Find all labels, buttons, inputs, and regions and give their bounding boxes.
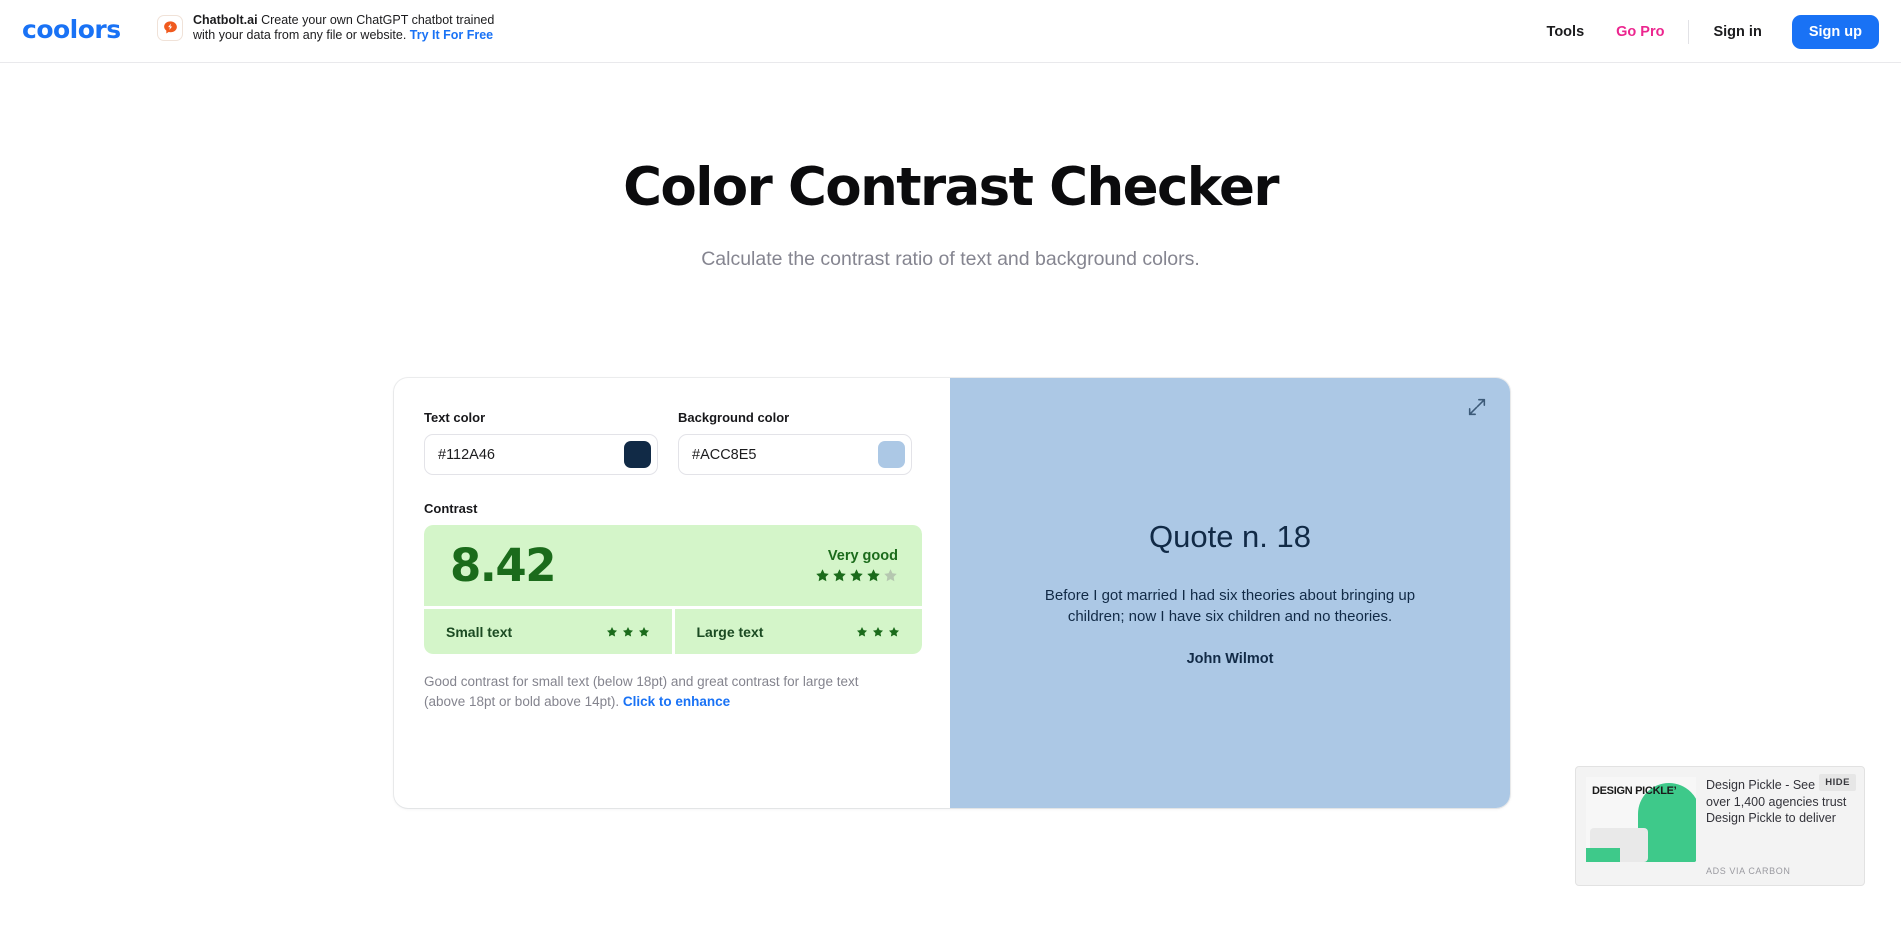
small-text-label: Small text	[446, 624, 512, 640]
color-fields: Text color #112A46 Background color #ACC…	[424, 410, 920, 475]
star-icon	[832, 568, 847, 583]
text-color-value[interactable]: #112A46	[438, 447, 624, 463]
text-color-swatch[interactable]	[624, 441, 651, 468]
star-icon	[888, 626, 900, 638]
nav-tools[interactable]: Tools	[1531, 24, 1601, 40]
preview-body: Before I got married I had six theories …	[1030, 585, 1430, 627]
promo-brand: Chatbolt.ai	[193, 13, 258, 27]
contrast-score-main: 8.42 Very good	[424, 525, 922, 606]
background-color-swatch[interactable]	[878, 441, 905, 468]
page-subtitle: Calculate the contrast ratio of text and…	[0, 248, 1901, 271]
large-text-score: Large text	[675, 609, 923, 654]
text-color-label: Text color	[424, 410, 658, 425]
ad-image-label: DESIGN PICKLE’	[1592, 785, 1676, 797]
contrast-hint: Good contrast for small text (below 18pt…	[424, 672, 894, 712]
ad-via-label: ADS VIA CARBON	[1706, 866, 1790, 876]
preview-title: Quote n. 18	[1149, 519, 1311, 555]
page-title: Color Contrast Checker	[0, 157, 1901, 218]
background-color-input[interactable]: #ACC8E5	[678, 434, 912, 475]
contrast-label: Contrast	[424, 501, 920, 516]
star-icon	[856, 626, 868, 638]
star-icon-empty	[883, 568, 898, 583]
text-color-input[interactable]: #112A46	[424, 434, 658, 475]
contrast-score-panel: 8.42 Very good Small text	[424, 525, 922, 654]
carbon-ad[interactable]: DESIGN PICKLE’ Design Pickle - See how o…	[1575, 766, 1865, 886]
controls-panel: Text color #112A46 Background color #ACC…	[394, 378, 950, 808]
text-color-field: Text color #112A46	[424, 410, 658, 475]
contrast-rating-group: Very good	[815, 548, 898, 583]
contrast-checker-card: Text color #112A46 Background color #ACC…	[394, 378, 1510, 808]
promo-cta-link[interactable]: Try It For Free	[410, 28, 493, 42]
star-icon	[622, 626, 634, 638]
site-header: coolors Chatbolt.ai Create your own Chat…	[0, 0, 1901, 63]
star-icon	[872, 626, 884, 638]
coolors-logo[interactable]: coolors	[22, 17, 121, 42]
star-icon	[638, 626, 650, 638]
background-color-label: Background color	[678, 410, 912, 425]
nav-go-pro[interactable]: Go Pro	[1600, 24, 1680, 40]
small-text-stars	[606, 626, 650, 638]
large-text-stars	[856, 626, 900, 638]
background-color-field: Background color #ACC8E5	[678, 410, 912, 475]
preview-panel: Quote n. 18 Before I got married I had s…	[950, 378, 1510, 808]
star-icon	[849, 568, 864, 583]
contrast-star-rating	[815, 568, 898, 583]
ad-text[interactable]: Design Pickle - See how over 1,400 agenc…	[1706, 777, 1854, 875]
star-icon	[866, 568, 881, 583]
nav-divider	[1688, 20, 1689, 44]
click-to-enhance-link[interactable]: Click to enhance	[623, 694, 730, 709]
chatbolt-lightning-icon	[157, 15, 183, 41]
ad-hide-button[interactable]: HIDE	[1819, 774, 1856, 791]
ad-image[interactable]: DESIGN PICKLE’	[1586, 777, 1696, 862]
small-text-score: Small text	[424, 609, 672, 654]
sign-up-button[interactable]: Sign up	[1792, 15, 1879, 49]
promo-text: Chatbolt.ai Create your own ChatGPT chat…	[193, 13, 513, 43]
contrast-rating-label: Very good	[815, 548, 898, 564]
expand-diagonal-icon[interactable]	[1466, 396, 1488, 418]
header-nav: Tools Go Pro Sign in Sign up	[1531, 0, 1879, 63]
nav-sign-in[interactable]: Sign in	[1697, 24, 1777, 40]
large-text-label: Large text	[697, 624, 764, 640]
contrast-subscores: Small text Large text	[424, 609, 922, 654]
star-icon	[815, 568, 830, 583]
promo-banner[interactable]: Chatbolt.ai Create your own ChatGPT chat…	[157, 13, 513, 43]
preview-author: John Wilmot	[1187, 651, 1274, 667]
ad-image-accent	[1586, 848, 1620, 862]
background-color-value[interactable]: #ACC8E5	[692, 447, 878, 463]
contrast-score-value: 8.42	[450, 543, 555, 588]
star-icon	[606, 626, 618, 638]
